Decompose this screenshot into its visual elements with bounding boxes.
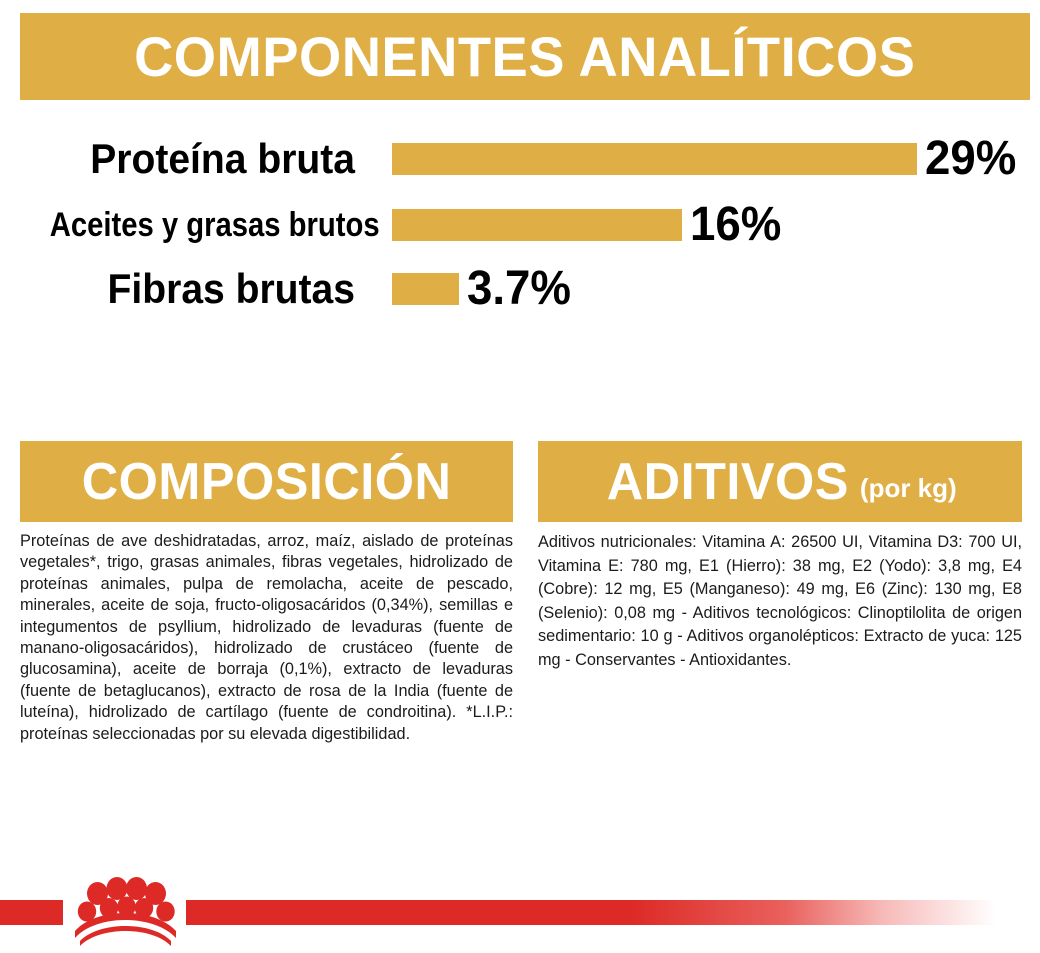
composition-heading: COMPOSICIÓN [82, 456, 452, 508]
chart-row: Fibras brutas 3.7% [0, 266, 1040, 312]
additives-column: ADITIVOS (por kg) Aditivos nutricionales… [538, 441, 1022, 672]
additives-heading: ADITIVOS [607, 456, 849, 508]
footer-rule-left [0, 900, 63, 925]
chart-bar [392, 273, 459, 305]
chart-value-label: 3.7% [467, 265, 571, 313]
footer-rule-right [186, 900, 996, 925]
chart-category-label: Proteína bruta [25, 138, 355, 180]
analytical-components-chart: Proteína bruta 29% Aceites y grasas brut… [0, 128, 1040, 318]
page-title: COMPONENTES ANALÍTICOS [134, 29, 915, 85]
analytical-components-banner: COMPONENTES ANALÍTICOS [20, 13, 1030, 100]
composition-column: COMPOSICIÓN Proteínas de ave deshidratad… [20, 441, 513, 745]
composition-banner: COMPOSICIÓN [20, 441, 513, 522]
chart-value-label: 29% [925, 135, 1016, 183]
chart-bar-zone: 16% [392, 202, 1040, 248]
chart-category-label: Fibras brutas [25, 268, 355, 310]
chart-bar-zone: 29% [392, 136, 1040, 182]
additives-banner: ADITIVOS (por kg) [538, 441, 1022, 522]
royal-canin-crown-logo [66, 876, 184, 948]
chart-bar [392, 209, 682, 241]
composition-body-text: Proteínas de ave deshidratadas, arroz, m… [20, 531, 513, 745]
footer [0, 898, 1040, 948]
additives-body-text: Aditivos nutricionales: Vitamina A: 2650… [538, 531, 1022, 672]
chart-row: Proteína bruta 29% [0, 136, 1040, 182]
chart-category-label: Aceites y grasas brutos [50, 208, 355, 242]
chart-row: Aceites y grasas brutos 16% [0, 202, 1040, 248]
additives-subheading: (por kg) [860, 475, 957, 501]
chart-bar [392, 143, 917, 175]
chart-value-label: 16% [690, 201, 781, 249]
chart-bar-zone: 3.7% [392, 266, 1040, 312]
